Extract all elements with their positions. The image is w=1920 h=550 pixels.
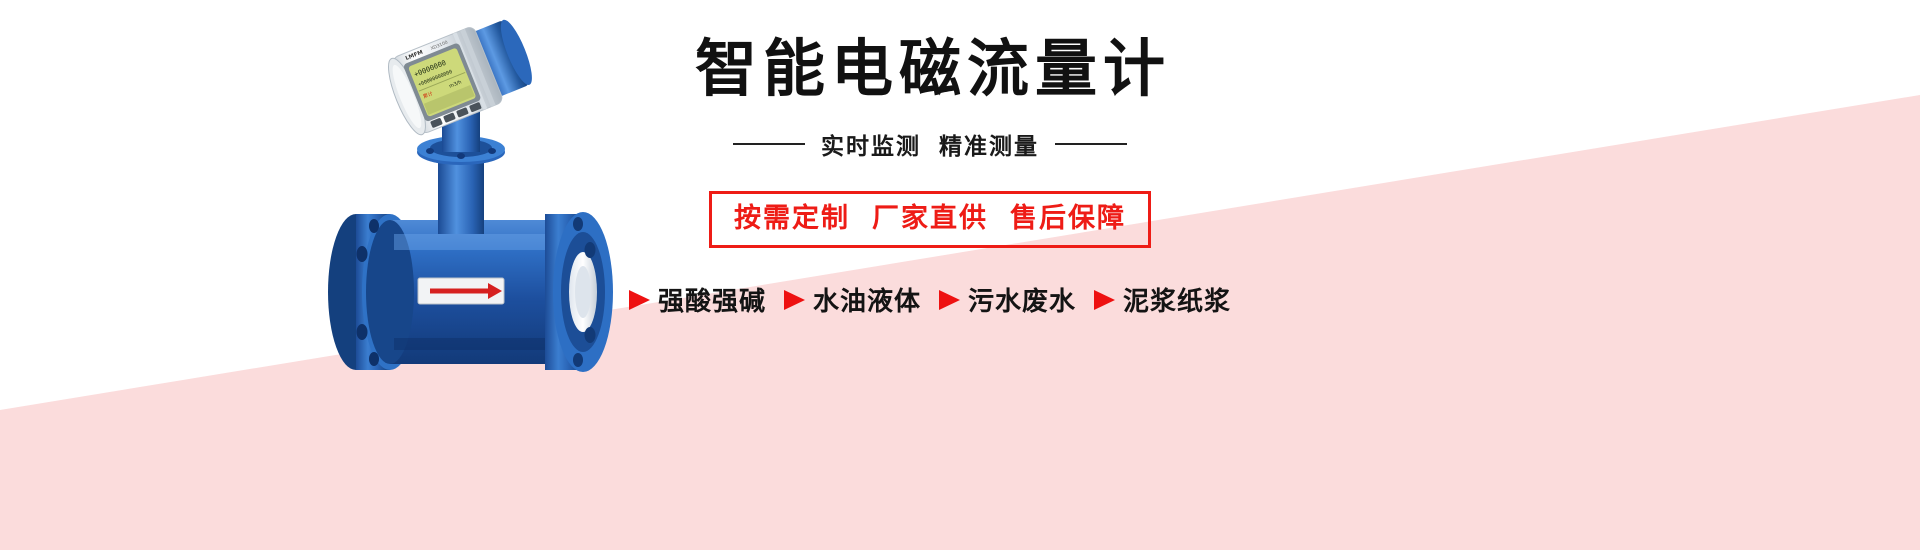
promo-badge-box: 按需定制厂家直供售后保障 [709, 191, 1151, 248]
banner-text-column: 智能电磁流量计 实时监测精准测量 按需定制厂家直供售后保障 强酸强碱 水油液体 [610, 34, 1250, 318]
subtitle-right: 精准测量 [939, 133, 1039, 159]
arrow-right-icon [939, 290, 960, 310]
feature-label: 强酸强碱 [658, 281, 766, 318]
feature-list: 强酸强碱 水油液体 污水废水 泥浆纸浆 [610, 281, 1250, 318]
arrow-right-icon [1094, 290, 1115, 310]
list-item: 污水废水 [939, 281, 1076, 318]
subtitle-group: 实时监测精准测量 [821, 127, 1039, 161]
promo-badge-text: 按需定制厂家直供售后保障 [734, 205, 1126, 232]
arrow-right-icon [784, 290, 805, 310]
feature-label: 污水废水 [968, 281, 1076, 318]
subtitle-row: 实时监测精准测量 [610, 127, 1250, 161]
promo-item-2: 厂家直供 [872, 203, 988, 233]
list-item: 泥浆纸浆 [1094, 281, 1231, 318]
feature-label: 泥浆纸浆 [1123, 281, 1231, 318]
list-item: 水油液体 [784, 281, 921, 318]
rule-left [733, 143, 805, 145]
transmitter-head: +0000000 +00000000000 累计 m3/h LMFM XD310… [381, 11, 540, 139]
subtitle-left: 实时监测 [821, 133, 921, 159]
promo-item-3: 售后保障 [1010, 203, 1126, 233]
rule-right [1055, 143, 1127, 145]
page-title: 智能电磁流量计 [610, 34, 1250, 105]
feature-label: 水油液体 [813, 281, 921, 318]
arrow-right-icon [629, 290, 650, 310]
list-item: 强酸强碱 [629, 281, 766, 318]
flow-direction-arrow-plate [418, 278, 504, 304]
right-flange [545, 212, 613, 372]
promo-banner: +0000000 +00000000000 累计 m3/h LMFM XD310… [0, 0, 1920, 550]
promo-item-1: 按需定制 [734, 203, 850, 233]
